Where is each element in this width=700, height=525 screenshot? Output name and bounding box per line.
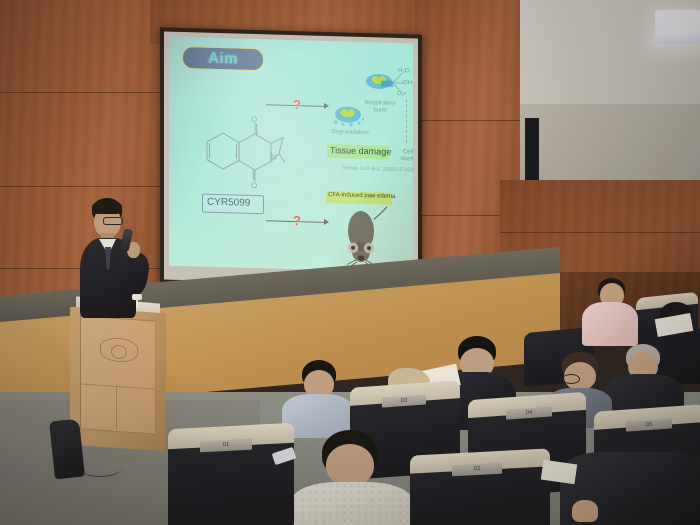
chem-atom-o-top: O	[251, 115, 257, 124]
ceiling-light-panel	[655, 10, 700, 44]
attendee-white-dotted-shirt	[292, 430, 412, 525]
arrow-bottom: ?	[266, 214, 328, 228]
tissue-damage-label: Tissue damage	[330, 145, 391, 157]
attendee-white-dotted-shirt-head	[326, 444, 374, 486]
podium-emblem-inner-icon	[111, 344, 127, 359]
shirt-dot-pattern	[292, 482, 412, 525]
arrow-top: ?	[266, 98, 328, 112]
ros-radiating-lines	[391, 69, 409, 98]
mouse-illustration	[334, 204, 390, 268]
lecture-hall-photo: Aim O O N	[0, 0, 700, 525]
presenter-glasses-icon	[103, 217, 123, 225]
label-cell-death: Cell death	[392, 143, 413, 163]
attendee-pink-shirt	[580, 278, 648, 342]
attendee-pink-shirt-body	[582, 302, 638, 346]
label-degranulation: Degranulation	[322, 129, 378, 137]
ceiling-light-glow	[648, 40, 700, 47]
presenter-hair-front	[92, 200, 122, 214]
chem-atom-n: N	[271, 152, 277, 161]
arrow-bottom-question-mark: ?	[293, 213, 301, 228]
slide-surface: Aim O O N	[169, 37, 413, 273]
compound-name-label: CYR5099	[207, 197, 250, 209]
arrow-top-question-mark: ?	[293, 97, 301, 112]
attendee-hand-bottom	[572, 500, 598, 522]
presenter	[72, 198, 162, 318]
slide-title-box: Aim	[182, 46, 264, 71]
cell-death-connector	[406, 99, 407, 143]
podium-panel-divider-v	[116, 386, 117, 430]
chemical-structure-cyr5099: O O N	[199, 111, 285, 189]
projection-screen: Aim O O N	[160, 31, 422, 287]
attendee-blue-shirt	[284, 360, 354, 432]
chem-atom-o-bottom: O	[251, 181, 257, 190]
slide-title-text: Aim	[208, 50, 238, 68]
podium	[66, 300, 170, 450]
podium-front-panel	[80, 315, 156, 434]
floor-cable	[78, 458, 122, 477]
presenter-cuff	[132, 294, 142, 300]
slide-citation: Trends Cell Biol. 2005;15:163-1	[341, 165, 413, 173]
attendee-glasses-icon	[562, 374, 580, 384]
